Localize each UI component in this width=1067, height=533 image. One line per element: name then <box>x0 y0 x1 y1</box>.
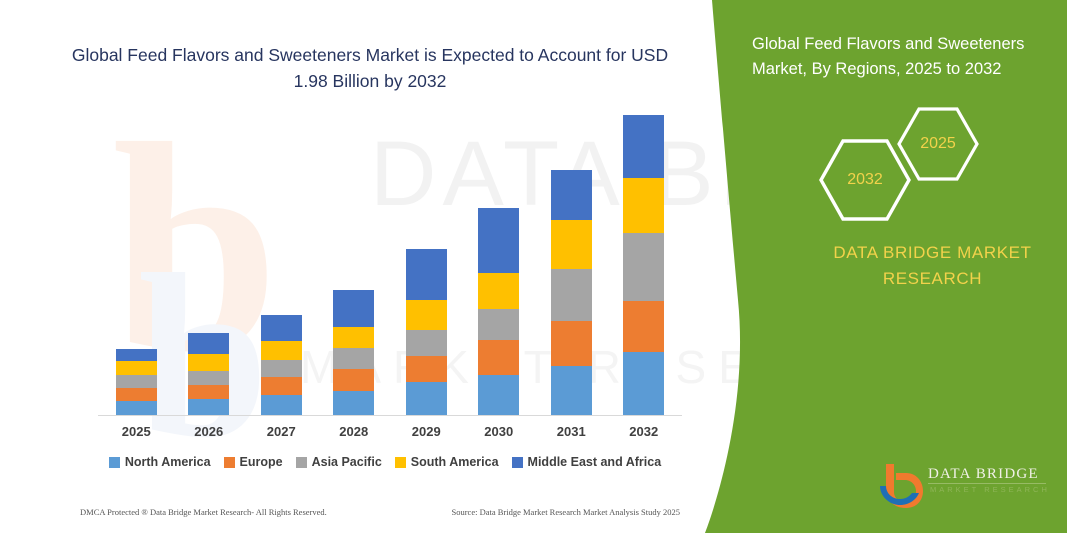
logo-tagline: MARKET RESEARCH <box>930 485 1050 494</box>
bar-segment[interactable] <box>333 369 374 391</box>
bar-segment[interactable] <box>333 391 374 415</box>
legend-item[interactable]: Europe <box>224 455 283 469</box>
legend-swatch-icon <box>395 457 406 468</box>
bar-segment[interactable] <box>261 395 302 415</box>
right-panel-title: Global Feed Flavors and Sweeteners Marke… <box>752 32 1052 82</box>
brand-name: DATA BRIDGE MARKET RESEARCH <box>800 240 1065 292</box>
bar-chart-plot <box>100 110 680 415</box>
bar-segment[interactable] <box>406 249 447 301</box>
bar-segment[interactable] <box>623 352 664 415</box>
bar-segment[interactable] <box>261 360 302 377</box>
legend-swatch-icon <box>109 457 120 468</box>
footer: DMCA Protected ® Data Bridge Market Rese… <box>80 507 680 517</box>
bar-segment[interactable] <box>478 375 519 415</box>
bar-segment[interactable] <box>623 233 664 301</box>
hexagon-2025-label: 2025 <box>895 105 981 183</box>
x-axis-label-2028: 2028 <box>333 424 374 444</box>
x-axis-label-2026: 2026 <box>188 424 229 444</box>
bar-segment[interactable] <box>188 371 229 385</box>
x-axis-label-2025: 2025 <box>116 424 157 444</box>
bar-segment[interactable] <box>551 170 592 220</box>
bar-segment[interactable] <box>551 269 592 322</box>
logo-divider <box>928 483 1046 484</box>
bar-segment[interactable] <box>116 349 157 362</box>
legend-label: Middle East and Africa <box>528 455 662 469</box>
brand-line-2: RESEARCH <box>800 266 1065 292</box>
bar-2031[interactable] <box>551 170 592 415</box>
bar-segment[interactable] <box>478 273 519 309</box>
bar-2028[interactable] <box>333 290 374 415</box>
chart-title: Global Feed Flavors and Sweeteners Marke… <box>60 42 680 94</box>
legend-swatch-icon <box>512 457 523 468</box>
x-axis-label-2027: 2027 <box>261 424 302 444</box>
bar-segment[interactable] <box>623 178 664 233</box>
bar-segment[interactable] <box>188 399 229 415</box>
footer-copyright: DMCA Protected ® Data Bridge Market Rese… <box>80 507 327 517</box>
bar-segment[interactable] <box>406 330 447 356</box>
bar-segment[interactable] <box>333 348 374 369</box>
bar-segment[interactable] <box>406 300 447 329</box>
legend-swatch-icon <box>296 457 307 468</box>
bar-segment[interactable] <box>261 341 302 360</box>
bar-segment[interactable] <box>551 321 592 365</box>
x-axis-label-2030: 2030 <box>478 424 519 444</box>
legend-label: South America <box>411 455 499 469</box>
bar-segment[interactable] <box>188 385 229 400</box>
legend-item[interactable]: South America <box>395 455 499 469</box>
bar-segment[interactable] <box>478 309 519 341</box>
legend-item[interactable]: North America <box>109 455 211 469</box>
bar-segment[interactable] <box>333 290 374 327</box>
bar-segment[interactable] <box>623 115 664 178</box>
bar-segment[interactable] <box>551 366 592 415</box>
bar-2029[interactable] <box>406 249 447 415</box>
bar-segment[interactable] <box>406 382 447 415</box>
legend-item[interactable]: Middle East and Africa <box>512 455 662 469</box>
bar-segment[interactable] <box>116 388 157 402</box>
legend-label: North America <box>125 455 211 469</box>
bar-segment[interactable] <box>188 333 229 354</box>
footer-source: Source: Data Bridge Market Research Mark… <box>451 507 680 517</box>
bar-segment[interactable] <box>333 327 374 348</box>
data-bridge-logo: DATA BRIDGE MARKET RESEARCH <box>878 462 1058 510</box>
bar-segment[interactable] <box>551 220 592 268</box>
x-axis-label-2031: 2031 <box>551 424 592 444</box>
bar-2026[interactable] <box>188 333 229 415</box>
bar-2032[interactable] <box>623 115 664 415</box>
bar-2027[interactable] <box>261 315 302 415</box>
bar-segment[interactable] <box>406 356 447 382</box>
hexagon-2025: 2025 <box>895 105 981 183</box>
x-axis-labels: 20252026202720282029203020312032 <box>100 424 680 444</box>
x-axis-label-2029: 2029 <box>406 424 447 444</box>
bar-segment[interactable] <box>261 315 302 341</box>
bar-segment[interactable] <box>188 354 229 371</box>
bar-segment[interactable] <box>261 377 302 395</box>
bar-segment[interactable] <box>478 208 519 273</box>
brand-line-1: DATA BRIDGE MARKET <box>800 240 1065 266</box>
bar-segment[interactable] <box>116 375 157 388</box>
bar-segment[interactable] <box>116 401 157 415</box>
logo-wordmark: DATA BRIDGE <box>928 466 1039 483</box>
bar-2030[interactable] <box>478 208 519 415</box>
x-axis-label-2032: 2032 <box>623 424 664 444</box>
legend-label: Europe <box>240 455 283 469</box>
infographic-canvas: b b DATA BRIDGE MARKET RESEARCH Global F… <box>0 0 1067 533</box>
logo-mark-icon <box>878 462 926 508</box>
bar-segment[interactable] <box>478 340 519 375</box>
bar-segment[interactable] <box>623 301 664 351</box>
chart-legend: North AmericaEuropeAsia PacificSouth Ame… <box>80 455 690 469</box>
legend-swatch-icon <box>224 457 235 468</box>
bar-2025[interactable] <box>116 349 157 415</box>
x-axis-line <box>98 415 682 416</box>
legend-item[interactable]: Asia Pacific <box>296 455 382 469</box>
legend-label: Asia Pacific <box>312 455 382 469</box>
bar-segment[interactable] <box>116 361 157 375</box>
